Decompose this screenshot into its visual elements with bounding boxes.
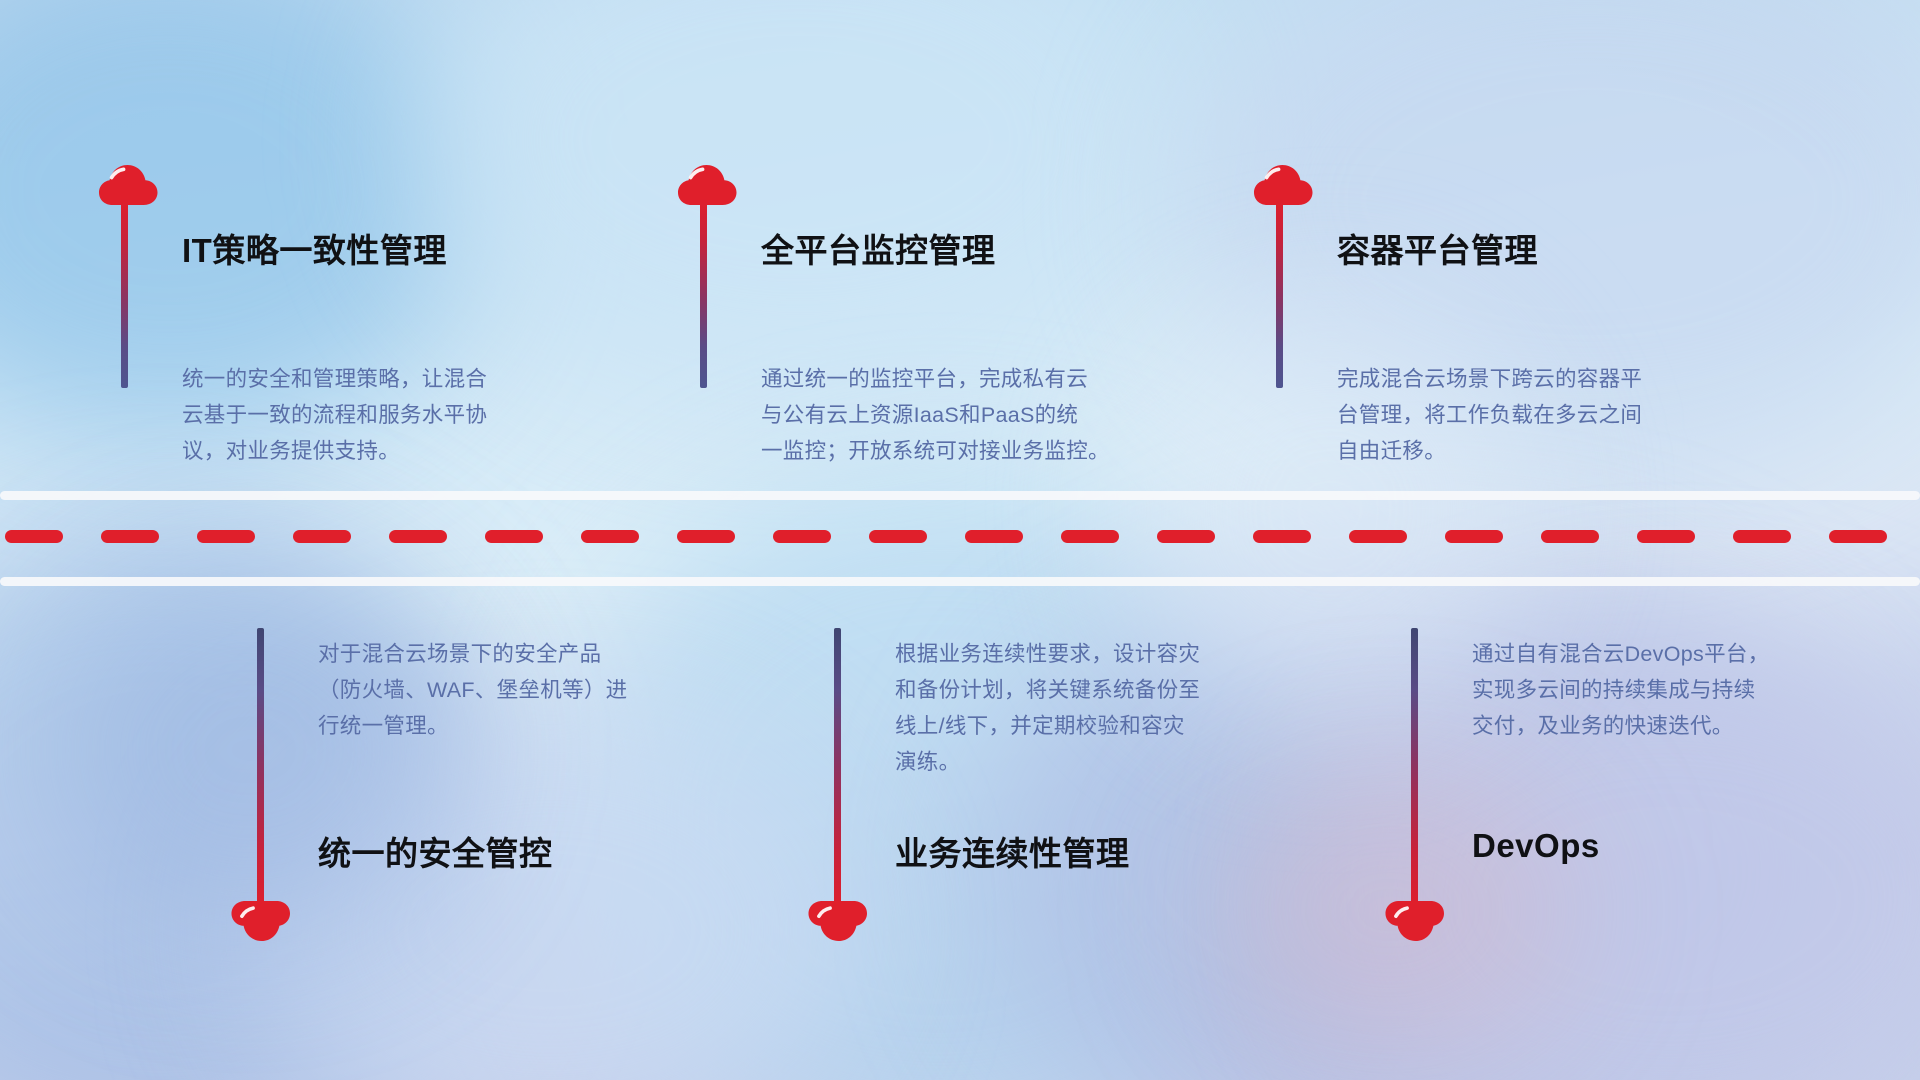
cloud-icon <box>98 160 160 206</box>
connector-stem <box>121 198 128 388</box>
connector-stem <box>700 198 707 388</box>
bottom-column-3-body: 通过自有混合云DevOps平台， 实现多云间的持续集成与持续 交付，及业务的快速… <box>1472 636 1862 744</box>
bottom-column-1-body: 对于混合云场景下的安全产品 （防火墙、WAF、堡垒机等）进 行统一管理。 <box>318 636 718 744</box>
top-column-1-body: 统一的安全和管理策略，让混合 云基于一致的流程和服务水平协 议，对业务提供支持。 <box>182 361 572 469</box>
road-dash <box>293 530 351 543</box>
cloud-icon <box>1383 900 1445 946</box>
road-dash <box>197 530 255 543</box>
cloud-icon <box>1253 160 1315 206</box>
road-dash <box>1541 530 1599 543</box>
road-dash <box>773 530 831 543</box>
top-column-1-title: IT策略一致性管理 <box>182 224 447 272</box>
road-dash <box>965 530 1023 543</box>
road-dash <box>1253 530 1311 543</box>
road-dash <box>1445 530 1503 543</box>
bottom-column-2-body: 根据业务连续性要求，设计容灾 和备份计划，将关键系统备份至 线上/线下，并定期校… <box>895 636 1305 780</box>
infographic-canvas: IT策略一致性管理 统一的安全和管理策略，让混合 云基于一致的流程和服务水平协 … <box>0 0 1920 1080</box>
road-dash <box>1733 530 1791 543</box>
road-dash <box>485 530 543 543</box>
road-dash <box>5 530 63 543</box>
connector-stem <box>257 628 264 913</box>
connector-stem <box>834 628 841 913</box>
road-dash <box>1829 530 1887 543</box>
road-dash <box>677 530 735 543</box>
road-dash <box>1157 530 1215 543</box>
top-column-2-title: 全平台监控管理 <box>761 224 996 272</box>
road-dash <box>101 530 159 543</box>
top-column-3-body: 完成混合云场景下跨云的容器平 台管理，将工作负载在多云之间 自由迁移。 <box>1337 361 1727 469</box>
top-column-3-title: 容器平台管理 <box>1337 224 1538 272</box>
road-line-top <box>0 491 1920 500</box>
top-column-2-body: 通过统一的监控平台，完成私有云 与公有云上资源IaaS和PaaS的统 一监控；开… <box>761 361 1181 469</box>
cloud-icon <box>677 160 739 206</box>
cloud-icon <box>806 900 868 946</box>
connector-stem <box>1411 628 1418 913</box>
bottom-column-3-title: DevOps <box>1472 827 1600 865</box>
road-dash <box>1349 530 1407 543</box>
connector-stem <box>1276 198 1283 388</box>
road-dash <box>1637 530 1695 543</box>
bottom-column-2-title: 业务连续性管理 <box>895 827 1130 875</box>
road-dash <box>869 530 927 543</box>
cloud-icon <box>229 900 291 946</box>
road-line-bottom <box>0 577 1920 586</box>
road-dash <box>389 530 447 543</box>
road-dash <box>1061 530 1119 543</box>
bottom-column-1-title: 统一的安全管控 <box>318 827 553 875</box>
road-dash <box>581 530 639 543</box>
